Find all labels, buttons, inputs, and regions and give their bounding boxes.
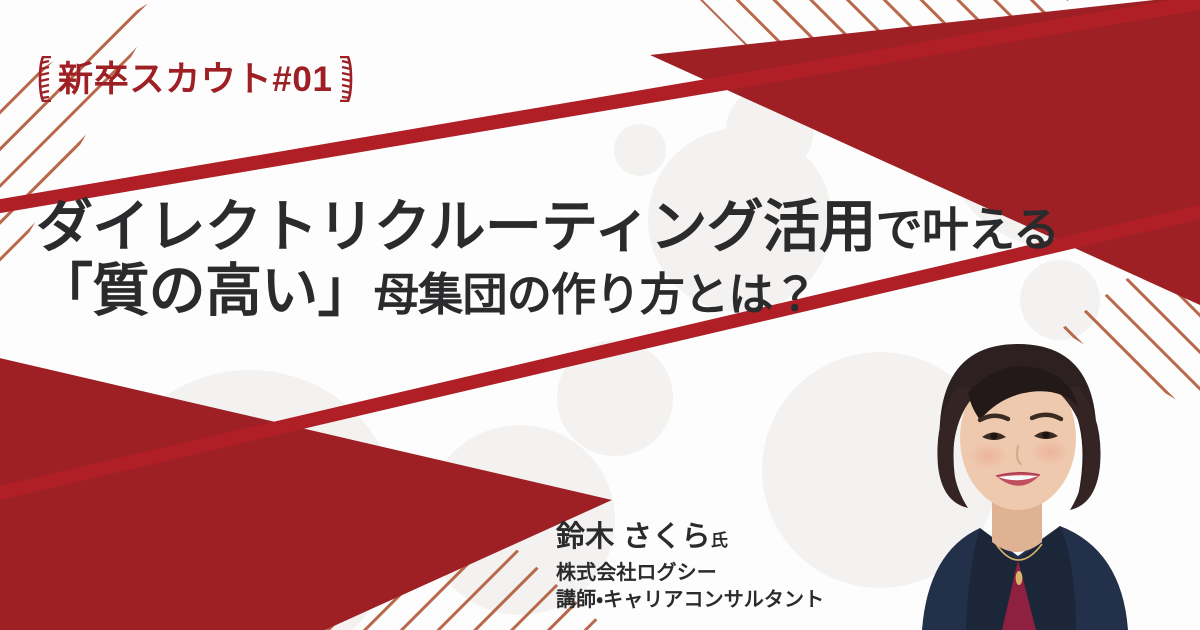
title-line-2: 「質の高い」母集団の作り方とは？: [36, 259, 1059, 323]
category-badge: 新卒スカウト#01: [38, 56, 353, 102]
badge-label: 新卒スカウト#01: [58, 62, 333, 97]
speaker-info: 鈴木 さくら氏 株式会社ログシー 講師・キャリアコンサルタント: [556, 519, 824, 613]
bracket-close-icon: [337, 56, 353, 102]
title-line-1-tail: で叶える: [876, 203, 1060, 256]
speaker-honorific: 氏: [711, 531, 728, 550]
page-title: ダイレクトリクルーティング活用で叶える 「質の高い」母集団の作り方とは？: [36, 195, 1059, 324]
bracket-open-icon: [38, 56, 54, 102]
title-line-1-main: ダイレクトリクルーティング活用: [36, 195, 876, 259]
speaker-name-row: 鈴木 さくら氏: [556, 519, 824, 555]
title-line-1: ダイレクトリクルーティング活用で叶える: [36, 195, 1059, 259]
seminar-banner: 新卒スカウト#01 ダイレクトリクルーティング活用で叶える 「質の高い」母集団の…: [0, 0, 1200, 630]
speaker-role: 講師・キャリアコンサルタント: [556, 587, 824, 613]
title-line-2-tail: 母集団の作り方とは？: [374, 269, 817, 320]
speaker-name: 鈴木 さくら: [556, 521, 711, 553]
title-line-2-main: 「質の高い」: [36, 259, 374, 323]
speaker-company: 株式会社ログシー: [556, 560, 824, 586]
